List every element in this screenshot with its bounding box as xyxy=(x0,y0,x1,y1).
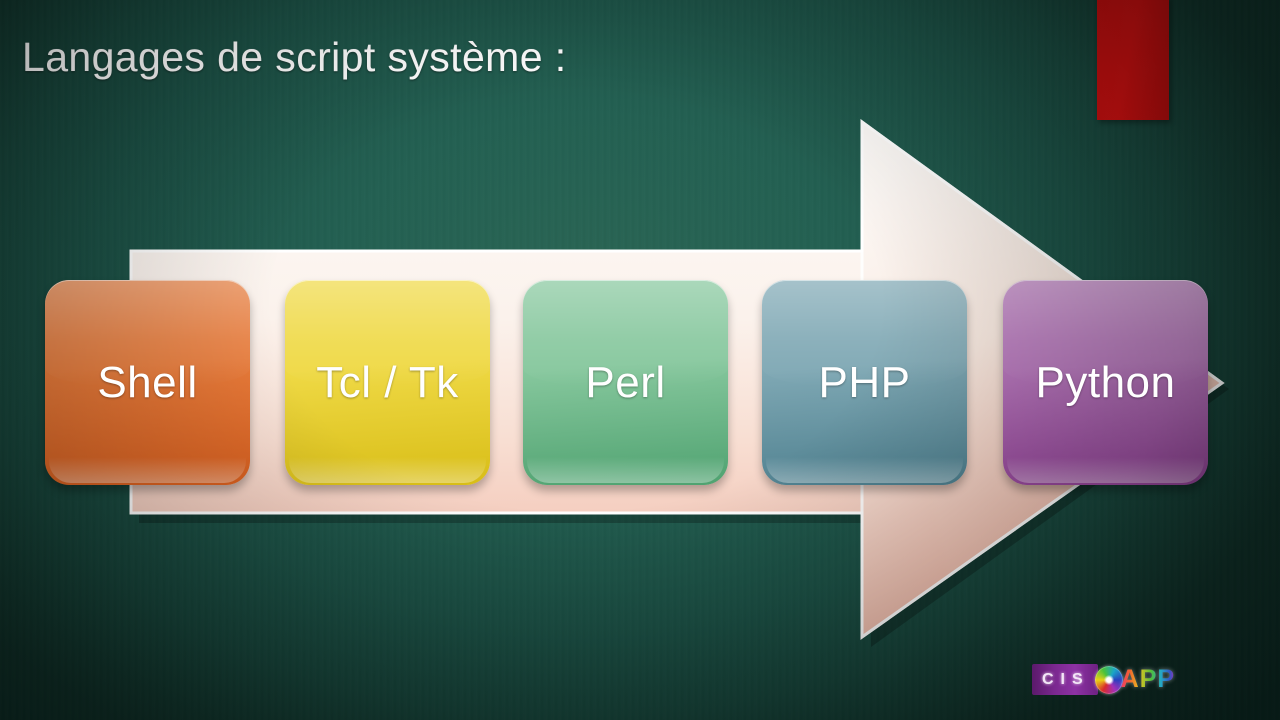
logo-cis-plate: CIS xyxy=(1032,664,1098,695)
language-label-php: PHP xyxy=(819,358,911,408)
language-label-perl: Perl xyxy=(585,358,665,408)
cisapp-logo: CIS APP xyxy=(1032,664,1175,695)
logo-cis-text: CIS xyxy=(1042,671,1090,689)
language-label-tcl-tk: Tcl / Tk xyxy=(316,358,459,408)
language-label-shell: Shell xyxy=(97,358,197,408)
box-bottom-gloss xyxy=(289,457,486,483)
box-bottom-gloss xyxy=(49,457,246,483)
box-bottom-gloss xyxy=(527,457,724,483)
language-box-python[interactable]: Python xyxy=(1003,280,1208,485)
box-bottom-gloss xyxy=(1007,457,1204,483)
rainbow-orb-icon xyxy=(1095,666,1123,694)
language-box-shell[interactable]: Shell xyxy=(45,280,250,485)
language-box-perl[interactable]: Perl xyxy=(523,280,728,485)
logo-app-text: APP xyxy=(1121,665,1175,694)
language-box-row: Shell Tcl / Tk Perl PHP Python xyxy=(0,0,1280,720)
box-bottom-gloss xyxy=(766,457,963,483)
language-box-tcl-tk[interactable]: Tcl / Tk xyxy=(285,280,490,485)
slide-canvas: Langages de script système : Shell Tcl /… xyxy=(0,0,1280,720)
language-label-python: Python xyxy=(1036,358,1176,408)
language-box-php[interactable]: PHP xyxy=(762,280,967,485)
